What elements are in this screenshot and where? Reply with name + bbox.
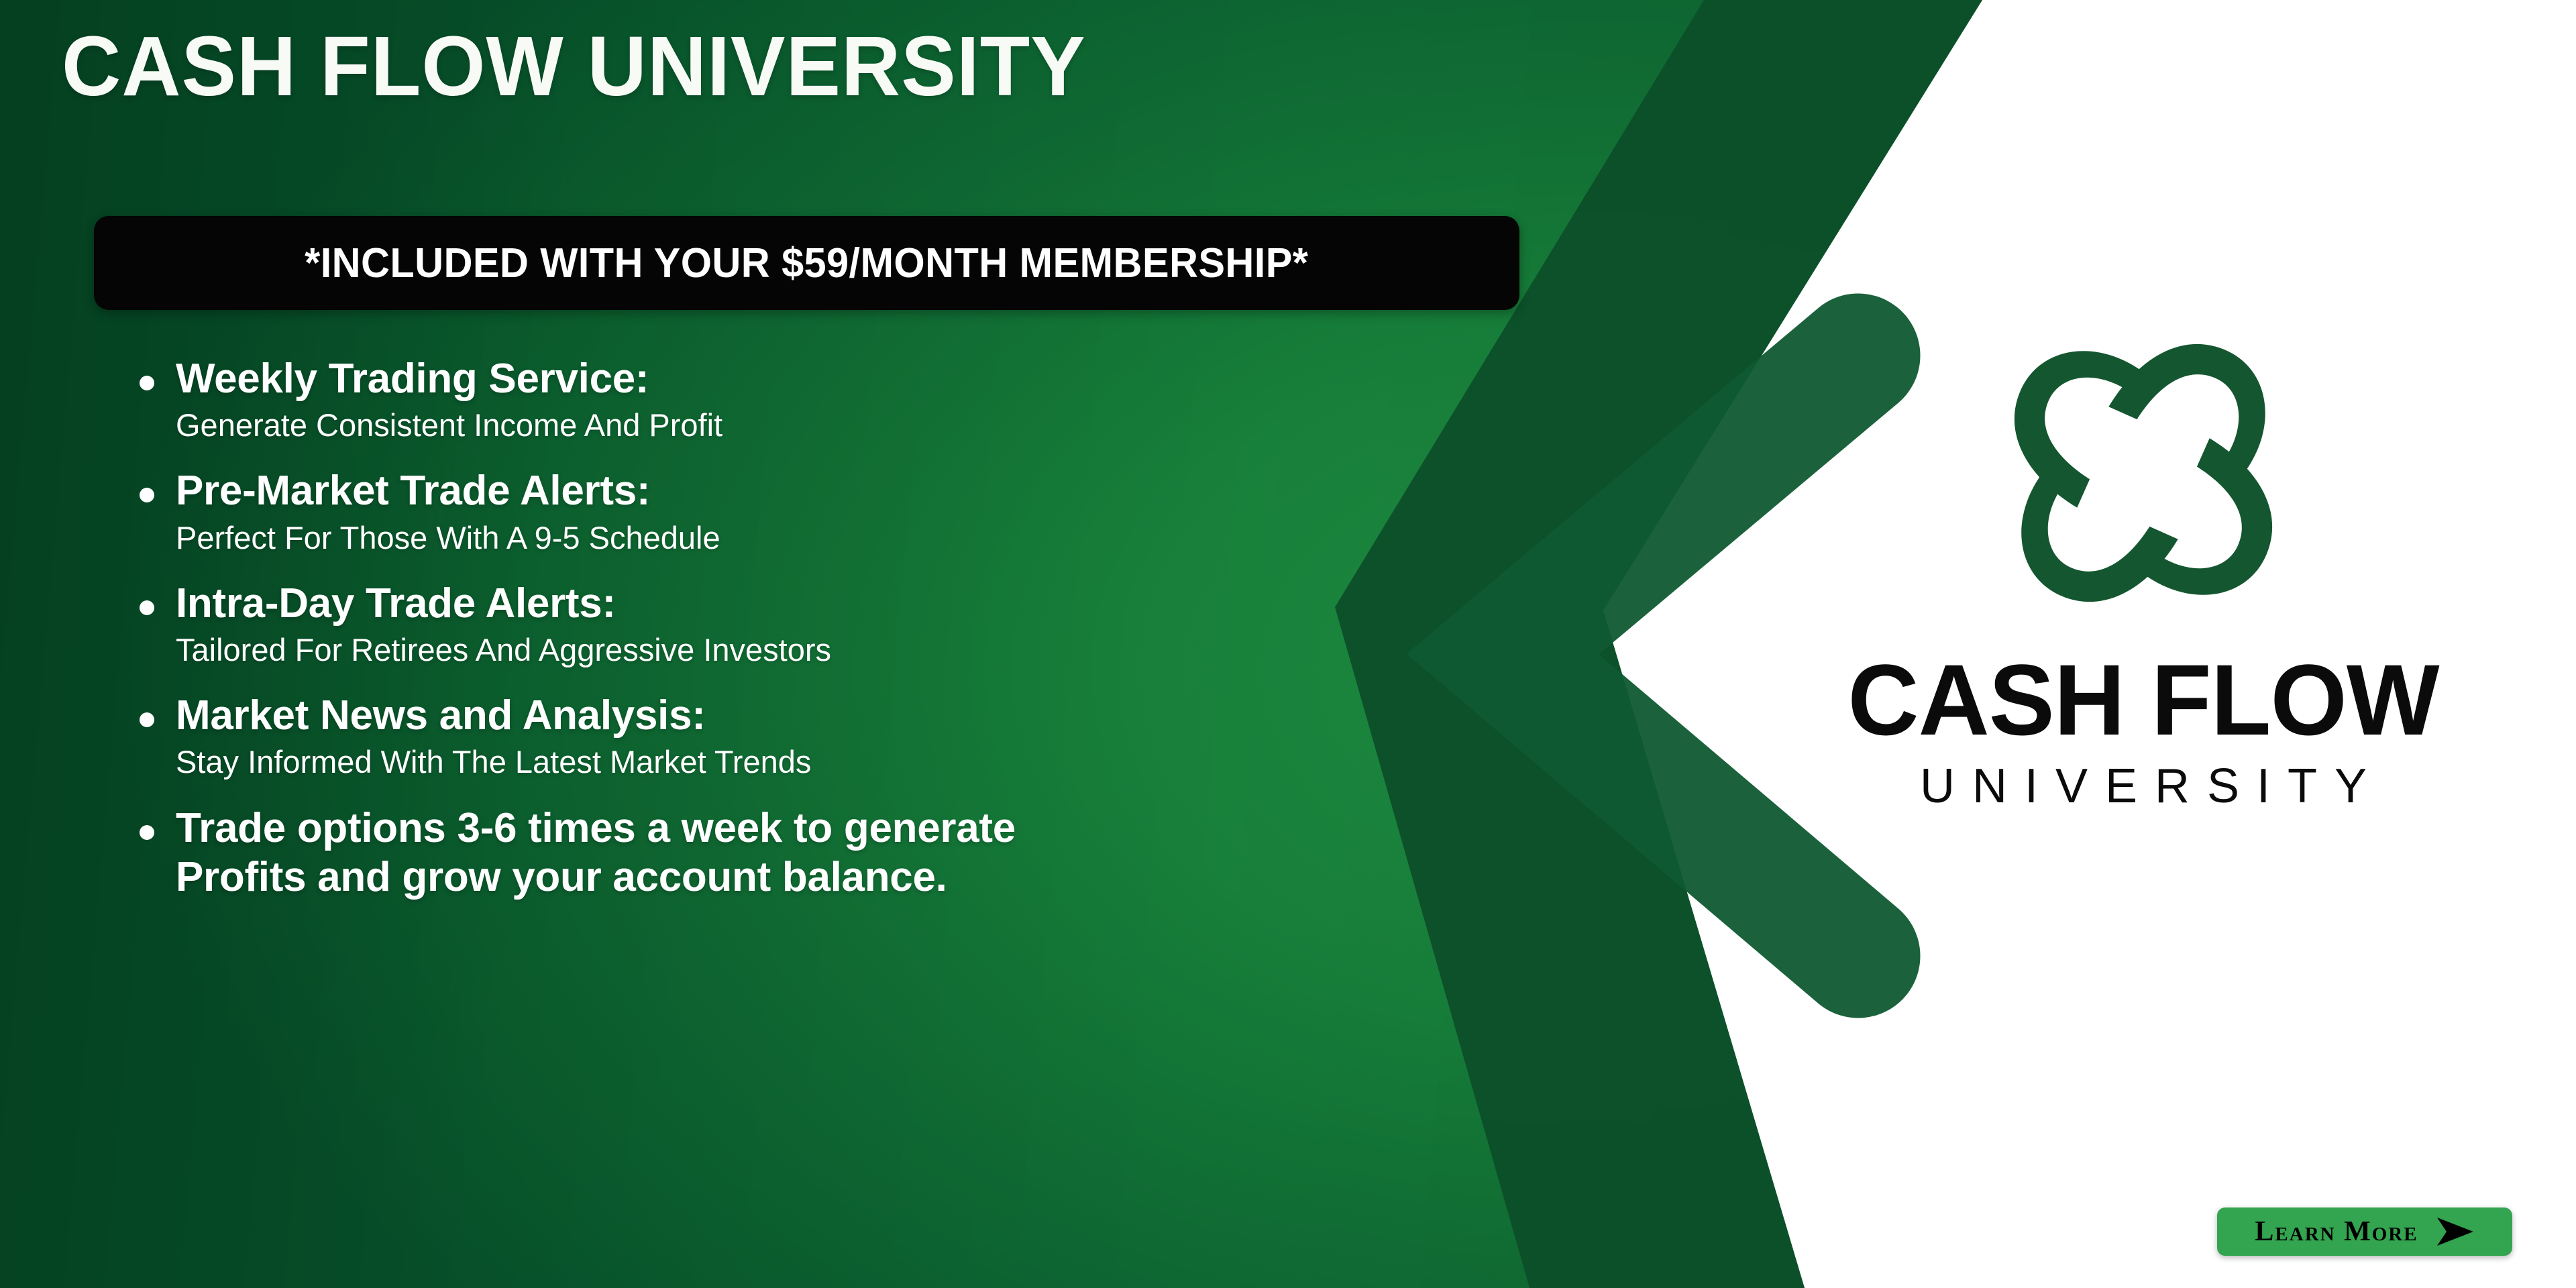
feature-title: Pre-Market Trade Alerts: — [176, 466, 1536, 515]
feature-list: Weekly Trading Service: Generate Consist… — [127, 354, 1536, 902]
bullet-dot-icon — [140, 488, 154, 502]
feature-title: Market News and Analysis: — [176, 691, 1536, 740]
bullet-dot-icon — [140, 376, 154, 390]
feature-title: Trade options 3-6 times a week to genera… — [176, 804, 1536, 902]
list-item: Market News and Analysis: Stay Informed … — [127, 691, 1536, 782]
learn-more-label: Learn More — [2255, 1218, 2418, 1246]
feature-subtitle: Tailored For Retirees And Aggressive Inv… — [176, 631, 1536, 669]
promo-banner: CASH FLOW UNIVERSITY *INCLUDED WITH YOUR… — [0, 0, 2576, 1288]
arrow-right-icon — [2436, 1216, 2475, 1247]
bullet-dot-icon — [140, 712, 154, 727]
list-item: Intra-Day Trade Alerts: Tailored For Ret… — [127, 579, 1536, 669]
logo-primary-text: CASH FLOW — [1766, 649, 2522, 750]
logo-secondary-text: UNIVERSITY — [1775, 762, 2529, 810]
membership-badge: *INCLUDED WITH YOUR $59/MONTH MEMBERSHIP… — [94, 216, 1519, 310]
bullet-dot-icon — [140, 825, 154, 840]
list-item: Weekly Trading Service: Generate Consist… — [127, 354, 1536, 445]
feature-title: Intra-Day Trade Alerts: — [176, 579, 1536, 628]
page-title: CASH FLOW UNIVERSITY — [62, 24, 1086, 109]
feature-title: Weekly Trading Service: — [176, 354, 1536, 403]
bullet-dot-icon — [140, 600, 154, 615]
learn-more-button[interactable]: Learn More — [2217, 1207, 2512, 1256]
interlocking-knot-emblem-icon — [1986, 315, 2301, 631]
membership-badge-label: *INCLUDED WITH YOUR $59/MONTH MEMBERSHIP… — [305, 239, 1308, 287]
list-item: Trade options 3-6 times a week to genera… — [127, 804, 1536, 902]
feature-subtitle: Stay Informed With The Latest Market Tre… — [176, 743, 1536, 782]
brand-logo: CASH FLOW UNIVERSITY — [1758, 315, 2529, 810]
list-item: Pre-Market Trade Alerts: Perfect For Tho… — [127, 466, 1536, 557]
feature-subtitle: Perfect For Those With A 9-5 Schedule — [176, 519, 1536, 557]
feature-subtitle: Generate Consistent Income And Profit — [176, 406, 1536, 445]
